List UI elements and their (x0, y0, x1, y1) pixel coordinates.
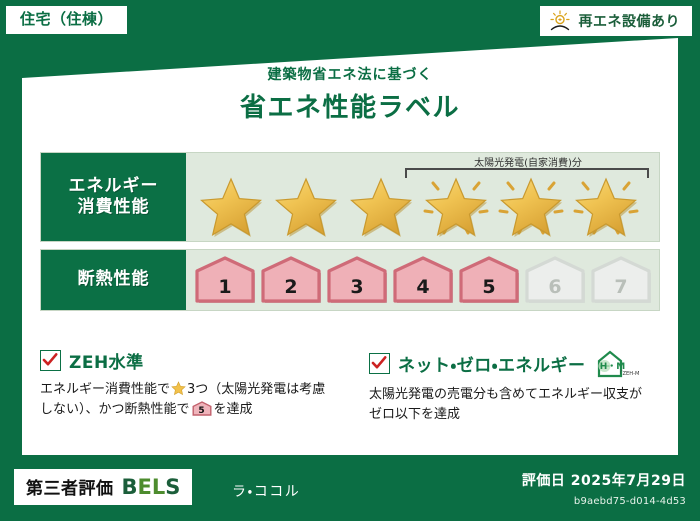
energy-performance-body: 太陽光発電(自家消費)分 (186, 153, 659, 241)
insulation-level-badge: 6 (524, 256, 586, 304)
zeh-desc-pre: エネルギー消費性能で (40, 382, 170, 397)
inline-house-level-value: 5 (192, 407, 212, 416)
bels-label-root: 住宅（住棟） 再エネ設備あり 建築物省エネ法に基づく 省エネ性能ラベル (0, 0, 700, 521)
nze-title: ネット・ゼロ・エネルギー (398, 351, 586, 376)
criterion-zeh-header: ZEH水準 (40, 348, 336, 373)
solar-self-consumption-note: 太陽光発電(自家消費)分 (405, 154, 651, 169)
insulation-level-value: 6 (524, 276, 586, 298)
energy-star-rating (194, 173, 655, 237)
bels-letter-b: B (122, 475, 138, 499)
renewable-energy-label: 再エネ設備あり (579, 11, 681, 31)
inline-star-icon (171, 381, 186, 396)
svg-text:「ZEH-M」: 「ZEH-M」 (617, 370, 639, 377)
energy-star (269, 171, 343, 239)
title-subtitle: 建築物省エネ法に基づく (0, 64, 700, 84)
criteria-section: ZEH水準 エネルギー消費性能で3つ（太陽光発電は考慮しない）、かつ断熱性能で5… (40, 348, 660, 425)
zeh-checkbox (40, 350, 61, 371)
sun-icon (548, 10, 572, 32)
zeh-desc-post: を達成 (214, 402, 253, 417)
insulation-level-badge: 1 (194, 256, 256, 304)
check-icon (42, 352, 58, 368)
vendor-name: ラ・ココル (232, 481, 300, 501)
document-type-tag: 住宅（住棟） (6, 6, 127, 34)
page-title: 省エネ性能ラベル (0, 87, 700, 124)
nze-checkbox (369, 353, 390, 374)
criterion-nze-header: ネット・ゼロ・エネルギー H・M 「ZEH-M」 (369, 348, 646, 378)
criterion-zeh-standard: ZEH水準 エネルギー消費性能で3つ（太陽光発電は考慮しない）、かつ断熱性能で5… (40, 348, 350, 425)
insulation-level-value: 4 (392, 276, 454, 298)
certificate-id: b9aebd75-d014-4d53 (574, 496, 686, 507)
bels-letter-el: EL (138, 475, 166, 499)
third-party-label: 第三者評価 (26, 474, 114, 499)
insulation-level-badge: 2 (260, 256, 322, 304)
energy-star (194, 171, 268, 239)
evaluation-date: 評価日 2025年7月29日 (522, 470, 686, 490)
insulation-level-badge: 7 (590, 256, 652, 304)
renewable-energy-badge: 再エネ設備あり (540, 6, 693, 36)
inline-house-level-icon: 5 (192, 401, 212, 416)
insulation-performance-label: 断熱性能 (41, 250, 186, 310)
document-type-label: 住宅（住棟） (20, 10, 113, 28)
energy-star (494, 171, 568, 239)
insulation-performance-row: 断熱性能 1234567 (40, 249, 660, 311)
title-block: 建築物省エネ法に基づく 省エネ性能ラベル (0, 64, 700, 124)
nze-description: 太陽光発電の売電分も含めてエネルギー収支がゼロ以下を達成 (369, 385, 646, 425)
footer: 第三者評価 BELS ラ・ココル 評価日 2025年7月29日 b9aebd75… (0, 455, 700, 521)
energy-performance-row: エネルギー 消費性能 太陽光発電(自家消費)分 (40, 152, 660, 242)
criterion-net-zero-energy: ネット・ゼロ・エネルギー H・M 「ZEH-M」 太陽光発電の売電分も含めてエネ… (350, 348, 660, 425)
zeh-description: エネルギー消費性能で3つ（太陽光発電は考慮しない）、かつ断熱性能で5を達成 (40, 380, 336, 420)
insulation-level-value: 5 (458, 276, 520, 298)
zeh-title: ZEH水準 (69, 348, 144, 373)
check-icon (371, 355, 387, 371)
insulation-level-scale: 1234567 (194, 250, 655, 310)
bels-letter-s: S (165, 475, 180, 499)
insulation-label-text: 断熱性能 (78, 269, 150, 290)
energy-star (569, 171, 643, 239)
energy-star (419, 171, 493, 239)
evaluation-date-label: 評価日 (522, 473, 566, 489)
evaluation-date-value: 2025年7月29日 (571, 473, 686, 489)
energy-label-line2: 消費性能 (78, 197, 150, 218)
insulation-level-value: 7 (590, 276, 652, 298)
insulation-level-value: 1 (194, 276, 256, 298)
energy-star (344, 171, 418, 239)
bels-wordmark: BELS (122, 475, 181, 499)
insulation-level-value: 2 (260, 276, 322, 298)
insulation-performance-body: 1234567 (186, 250, 659, 310)
insulation-level-value: 3 (326, 276, 388, 298)
energy-label-line1: エネルギー (69, 176, 159, 197)
insulation-level-badge: 5 (458, 256, 520, 304)
insulation-level-badge: 3 (326, 256, 388, 304)
insulation-level-badge: 4 (392, 256, 454, 304)
zeh-m-logo-icon: H・M 「ZEH-M」 (595, 348, 639, 378)
performance-section: エネルギー 消費性能 太陽光発電(自家消費)分 断熱性能 1234567 (40, 152, 660, 318)
bels-certification-box: 第三者評価 BELS (14, 469, 192, 505)
energy-performance-label: エネルギー 消費性能 (41, 153, 186, 241)
